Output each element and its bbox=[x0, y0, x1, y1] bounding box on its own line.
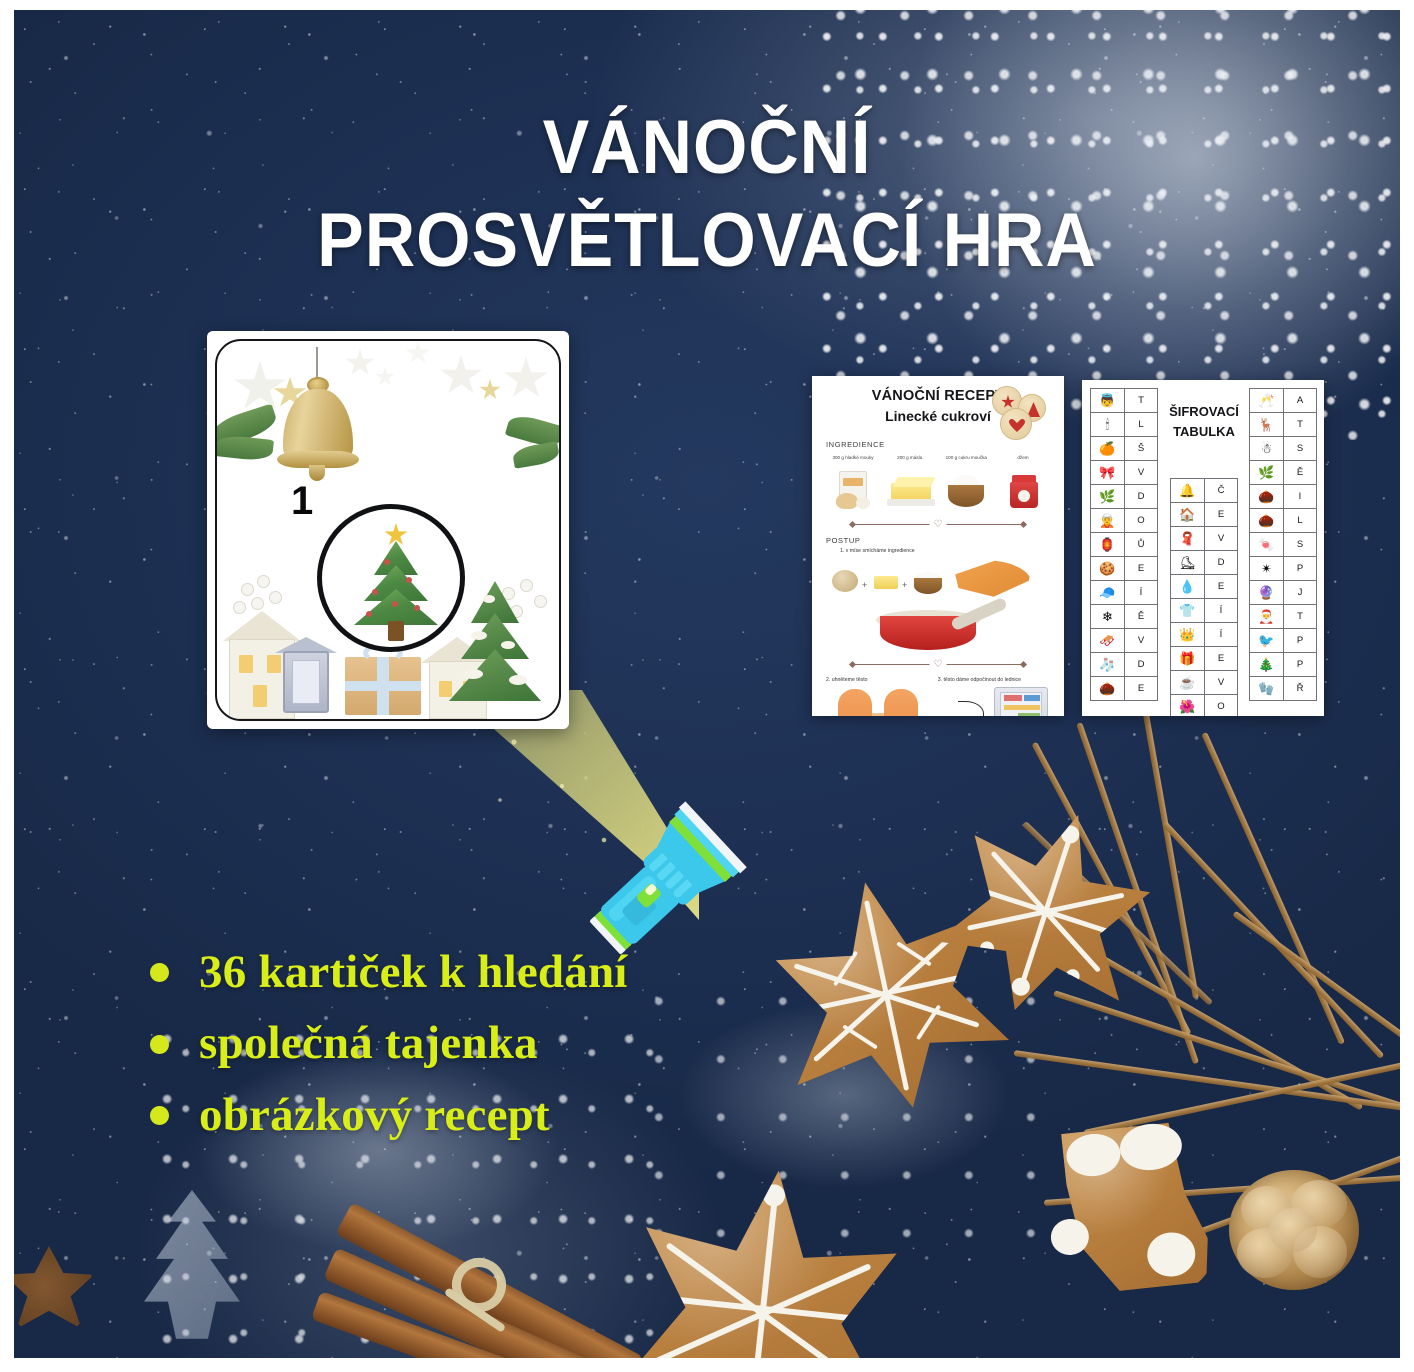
pinecone-icon: 🌰 bbox=[1091, 677, 1125, 700]
cipher-column-1: 👼T🕯L🍊Š🎀V🌿D🧝O🏮Ů🍪E🧢Í❄Ě🛷V🧦D🌰E bbox=[1090, 388, 1158, 701]
feature-list: 36 kartiček k hledání společná tajenka o… bbox=[150, 948, 628, 1162]
star-decor-icon bbox=[405, 341, 431, 365]
cipher-letter: S bbox=[1284, 437, 1316, 460]
cipher-row: 🧣V bbox=[1170, 527, 1238, 551]
gingerbread-star-icon bbox=[753, 859, 1026, 1132]
cipher-row: 🎁E bbox=[1170, 647, 1238, 671]
bird-icon: 🐦 bbox=[1250, 629, 1284, 652]
gift-icon: 🎁 bbox=[1171, 647, 1205, 670]
cipher-row: 🧤Ř bbox=[1249, 677, 1317, 701]
cipher-row: 🧦D bbox=[1090, 653, 1158, 677]
winter-hat-icon: 🧢 bbox=[1091, 581, 1125, 604]
cipher-letter: O bbox=[1125, 509, 1157, 532]
candy-cane-icon: 🍬 bbox=[1250, 533, 1284, 556]
cipher-letter: T bbox=[1284, 413, 1316, 436]
bullet-dot-icon bbox=[150, 1106, 169, 1125]
cipher-letter: Ě bbox=[1125, 605, 1157, 628]
cipher-row: 🍬S bbox=[1249, 533, 1317, 557]
cipher-row: 🌰L bbox=[1249, 509, 1317, 533]
cipher-letter: O bbox=[1205, 695, 1237, 716]
cipher-letter: L bbox=[1125, 413, 1157, 436]
steps-label: POSTUP bbox=[826, 536, 1050, 545]
page-title: VÁNOČNÍ PROSVĚTLOVACÍ HRA bbox=[14, 102, 1400, 287]
cipher-letter: V bbox=[1125, 461, 1157, 484]
ingredient-item: 300 g hladké mouky bbox=[828, 455, 878, 509]
cipher-row: 🍊Š bbox=[1090, 437, 1158, 461]
star-icon: ✴ bbox=[1250, 557, 1284, 580]
cipher-row: ✴P bbox=[1249, 557, 1317, 581]
cipher-row: 🌰E bbox=[1090, 677, 1158, 701]
christmas-tree-icon: 🎄 bbox=[1250, 653, 1284, 676]
cipher-row: 👕Í bbox=[1170, 599, 1238, 623]
card-number: 1 bbox=[291, 479, 313, 524]
star-decor-icon bbox=[503, 357, 549, 401]
cipher-letter: E bbox=[1205, 503, 1237, 526]
title-line-1: VÁNOČNÍ bbox=[69, 102, 1344, 195]
cipher-letter: Í bbox=[1205, 599, 1237, 622]
cipher-letter: P bbox=[1284, 653, 1316, 676]
gingerbread-stocking-icon bbox=[1051, 1109, 1219, 1304]
cipher-row: 🕯L bbox=[1090, 413, 1158, 437]
recipe-step: 1. v míse smícháme ingredience bbox=[840, 548, 1050, 554]
recipe-step: 3. těsto dáme odpočinout do lednice bbox=[938, 677, 1050, 683]
feature-label: obrázkový recept bbox=[199, 1091, 550, 1140]
page-margin-top bbox=[0, 0, 1414, 10]
pinecone-icon: 🌰 bbox=[1250, 485, 1284, 508]
cipher-row: 🛷V bbox=[1090, 629, 1158, 653]
cipher-letter: Í bbox=[1205, 623, 1237, 646]
poinsettia-icon: 🌺 bbox=[1171, 695, 1205, 716]
flour-bag-icon bbox=[828, 469, 878, 509]
heart-icon: ♡ bbox=[930, 659, 947, 670]
cipher-row: 🏠E bbox=[1170, 503, 1238, 527]
cipher-letter: E bbox=[1125, 557, 1157, 580]
reindeer-icon: 🦌 bbox=[1250, 413, 1284, 436]
green-bow-icon: 🎀 bbox=[1091, 461, 1125, 484]
advent-candles-icon: 🕯 bbox=[1091, 413, 1125, 436]
cipher-row: 🍪E bbox=[1090, 557, 1158, 581]
cipher-letter: E bbox=[1205, 575, 1237, 598]
feature-label: společná tajenka bbox=[199, 1019, 538, 1068]
ingredient-item: džem bbox=[998, 455, 1048, 509]
butter-icon bbox=[885, 469, 935, 509]
cipher-letter: V bbox=[1125, 629, 1157, 652]
ingredient-item: 100 g cukru moučka bbox=[941, 455, 991, 509]
gingerbread-house-icon: 🏠 bbox=[1171, 503, 1205, 526]
page-margin-right bbox=[1400, 0, 1414, 1372]
star-anise-icon bbox=[14, 1246, 94, 1336]
cipher-letter: A bbox=[1284, 389, 1316, 412]
ingredient-caption: 100 g cukru moučka bbox=[941, 455, 991, 467]
list-item: obrázkový recept bbox=[150, 1091, 628, 1140]
mistletoe-icon: 🌿 bbox=[1091, 485, 1125, 508]
snowman-icon: ☃ bbox=[1250, 437, 1284, 460]
star-decor-icon bbox=[479, 379, 501, 401]
ice-skate-icon: ⛸ bbox=[1171, 551, 1205, 574]
page-margin-left bbox=[0, 0, 14, 1372]
game-card-preview[interactable]: 1 bbox=[207, 331, 569, 729]
kneading-hands-icon bbox=[826, 689, 930, 716]
gift-ribbon bbox=[345, 681, 421, 691]
icicle-ornament-icon: 💧 bbox=[1171, 575, 1205, 598]
cipher-column-3: 🥂A🦌T☃S🌿Ě🌰I🌰L🍬S✴P🔮J🎅T🐦P🎄P🧤Ř bbox=[1249, 388, 1317, 701]
lantern-icon: 🏮 bbox=[1091, 533, 1125, 556]
orange-slice-icon: 🍊 bbox=[1091, 437, 1125, 460]
mixing-bowl-icon bbox=[826, 608, 1050, 656]
star-decor-icon bbox=[375, 367, 395, 387]
cipher-letter: V bbox=[1205, 671, 1237, 694]
title-line-2: PROSVĚTLOVACÍ HRA bbox=[69, 195, 1344, 288]
cipher-row: 🌺O bbox=[1170, 695, 1238, 716]
cipher-letter: V bbox=[1205, 527, 1237, 550]
cipher-letter: E bbox=[1125, 677, 1157, 700]
ingredient-caption: džem bbox=[998, 455, 1048, 467]
gingerbread-man-icon: 🍪 bbox=[1091, 557, 1125, 580]
cipher-row: 🎄P bbox=[1249, 653, 1317, 677]
cipher-letter: I bbox=[1284, 485, 1316, 508]
cipher-letter: T bbox=[1284, 605, 1316, 628]
angel-icon: 👼 bbox=[1091, 389, 1125, 412]
cipher-letter: Š bbox=[1125, 437, 1157, 460]
cipher-row: ☃S bbox=[1249, 437, 1317, 461]
cipher-row: ⛸D bbox=[1170, 551, 1238, 575]
cipher-title-line-1: ŠIFROVACÍ bbox=[1156, 402, 1252, 422]
gnome-icon: 🧝 bbox=[1091, 509, 1125, 532]
heart-icon: ♡ bbox=[930, 519, 947, 530]
cipher-letter: P bbox=[1284, 629, 1316, 652]
red-scarf-icon: 🧣 bbox=[1171, 527, 1205, 550]
cipher-row: 🧝O bbox=[1090, 509, 1158, 533]
cinnamon-sticks-icon bbox=[344, 1140, 744, 1358]
ingredients-label: INGREDIENCE bbox=[826, 440, 1050, 449]
cipher-letter: D bbox=[1125, 653, 1157, 676]
ingredient-item: 200 g másla bbox=[885, 455, 935, 509]
walnut-icon: 🌰 bbox=[1250, 509, 1284, 532]
bell-icon bbox=[269, 347, 365, 507]
sled-icon: 🛷 bbox=[1091, 629, 1125, 652]
cipher-letter: Í bbox=[1125, 581, 1157, 604]
cipher-letter: Ř bbox=[1284, 677, 1316, 700]
walnut-icon bbox=[1229, 1170, 1359, 1290]
cipher-row: 👑Í bbox=[1170, 623, 1238, 647]
bullet-dot-icon bbox=[150, 963, 169, 982]
cipher-letter: D bbox=[1205, 551, 1237, 574]
ingredients-row: 300 g hladké mouky 200 g másla 100 g cuk… bbox=[826, 455, 1050, 509]
cipher-row: 🎅T bbox=[1249, 605, 1317, 629]
bullet-dot-icon bbox=[150, 1035, 169, 1054]
ingredient-caption: 300 g hladké mouky bbox=[828, 455, 878, 467]
cipher-row: 🐦P bbox=[1249, 629, 1317, 653]
cipher-letter: P bbox=[1284, 557, 1316, 580]
cipher-title: ŠIFROVACÍ TABULKA bbox=[1156, 402, 1252, 442]
cipher-row: 🦌T bbox=[1249, 413, 1317, 437]
tree-cookie-cutter-icon bbox=[92, 1190, 292, 1358]
cipher-letter: Ů bbox=[1125, 533, 1157, 556]
cipher-title-line-2: TABULKA bbox=[1156, 422, 1252, 442]
cipher-letter: Ě bbox=[1284, 461, 1316, 484]
nutcracker-icon: 🥂 bbox=[1250, 389, 1284, 412]
cipher-row: 👼T bbox=[1090, 388, 1158, 413]
cipher-row: 🥂A bbox=[1249, 388, 1317, 413]
cipher-row: ❄Ě bbox=[1090, 605, 1158, 629]
list-item: společná tajenka bbox=[150, 1019, 628, 1068]
page-margin-bottom bbox=[0, 1358, 1414, 1372]
cipher-row: 🌰I bbox=[1249, 485, 1317, 509]
fridge-icon bbox=[938, 687, 1050, 716]
list-item: 36 kartiček k hledání bbox=[150, 948, 628, 997]
mittens-icon: 🧤 bbox=[1250, 677, 1284, 700]
shepherd-icon: 👑 bbox=[1171, 623, 1205, 646]
cipher-row: 🧢Í bbox=[1090, 581, 1158, 605]
star-decor-icon bbox=[439, 355, 483, 397]
cipher-letter: E bbox=[1205, 647, 1237, 670]
lantern-icon bbox=[283, 651, 329, 713]
feature-label: 36 kartiček k hledání bbox=[199, 948, 628, 997]
evergreen-sprig-icon bbox=[215, 434, 274, 462]
cipher-row: 🌿D bbox=[1090, 485, 1158, 509]
step1-art: + + bbox=[826, 556, 1050, 608]
christmas-tree-icon bbox=[317, 504, 465, 652]
section-divider: ♡ bbox=[850, 658, 1026, 672]
cipher-letter: T bbox=[1125, 389, 1157, 412]
cipher-row: 🔔Č bbox=[1170, 478, 1238, 503]
wreath-icon: 🌿 bbox=[1250, 461, 1284, 484]
jam-jar-icon bbox=[998, 469, 1048, 509]
gingerbread-star-icon bbox=[917, 783, 1175, 1041]
hot-drink-icon: ☕ bbox=[1171, 671, 1205, 694]
santa-hat-icon: 🎅 bbox=[1250, 605, 1284, 628]
cipher-letter: S bbox=[1284, 533, 1316, 556]
ugly-sweater-icon: 👕 bbox=[1171, 599, 1205, 622]
recipe-sheet-preview[interactable]: VÁNOČNÍ RECEPT Linecké cukroví INGREDIEN… bbox=[812, 376, 1064, 716]
recipe-step: 2. uhněteme těsto bbox=[826, 677, 930, 683]
cipher-row: 🌿Ě bbox=[1249, 461, 1317, 485]
linzer-cookies-icon bbox=[988, 386, 1048, 438]
evergreen-sprig-icon bbox=[512, 441, 561, 469]
game-card-inner-frame: 1 bbox=[215, 339, 561, 721]
cipher-letter: D bbox=[1125, 485, 1157, 508]
cipher-letter: Č bbox=[1205, 479, 1237, 502]
ingredient-caption: 200 g másla bbox=[885, 455, 935, 467]
cipher-row: 🎀V bbox=[1090, 461, 1158, 485]
cipher-table-preview[interactable]: ŠIFROVACÍ TABULKA 👼T🕯L🍊Š🎀V🌿D🧝O🏮Ů🍪E🧢Í❄Ě🛷V… bbox=[1082, 380, 1324, 716]
twine-bow bbox=[444, 1250, 514, 1320]
sugar-bowl-icon bbox=[941, 469, 991, 509]
cipher-row: ☕V bbox=[1170, 671, 1238, 695]
section-divider: ♡ bbox=[850, 518, 1026, 532]
stocking-icon: 🧦 bbox=[1091, 653, 1125, 676]
cipher-column-2: 🔔Č🏠E🧣V⛸D💧E👕Í👑Í🎁E☕V🌺O bbox=[1170, 478, 1238, 716]
sugar-dust-bottom-center bbox=[634, 978, 1054, 1238]
bauble-icon: 🔮 bbox=[1250, 581, 1284, 604]
snowflake-icon: ❄ bbox=[1091, 605, 1125, 628]
cipher-row: 🔮J bbox=[1249, 581, 1317, 605]
cipher-row: 💧E bbox=[1170, 575, 1238, 599]
cipher-letter: L bbox=[1284, 509, 1316, 532]
cipher-letter: J bbox=[1284, 581, 1316, 604]
poster-canvas: VÁNOČNÍ PROSVĚTLOVACÍ HRA bbox=[14, 10, 1400, 1358]
gingerbread-star-icon bbox=[610, 1156, 918, 1358]
bell-icon: 🔔 bbox=[1171, 479, 1205, 502]
cipher-row: 🏮Ů bbox=[1090, 533, 1158, 557]
